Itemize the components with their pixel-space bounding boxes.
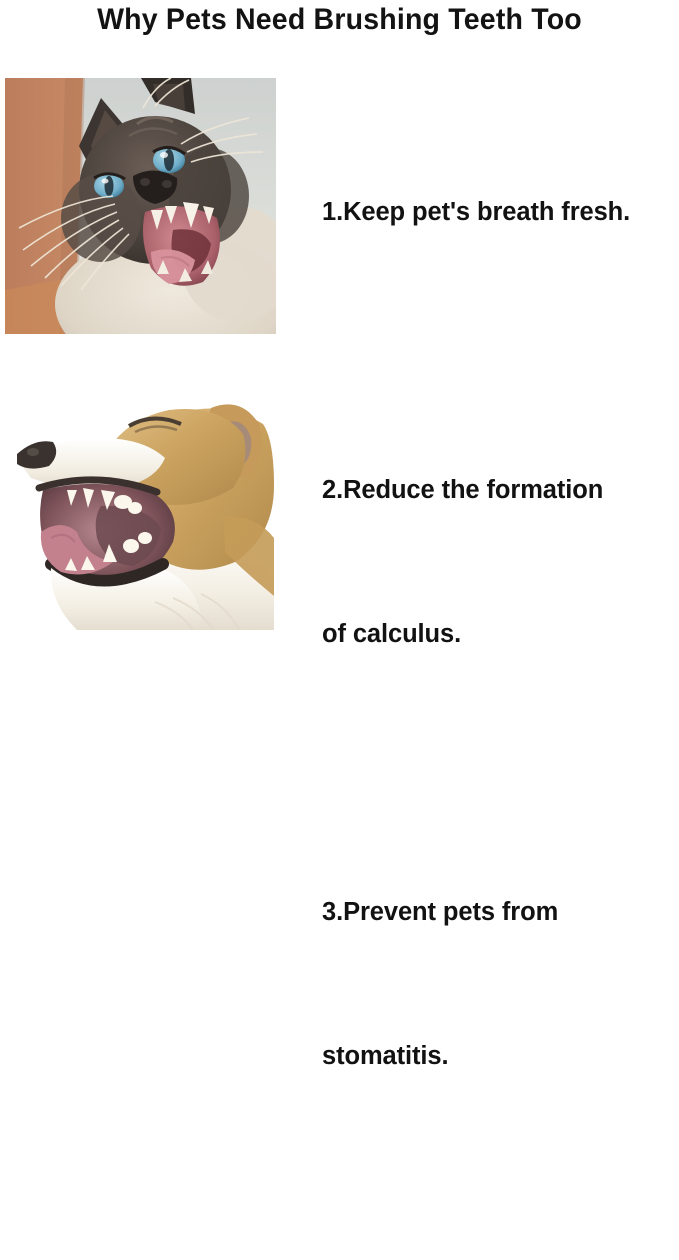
list-item-4: 4.Reduce the risk of other diseases caus… [322, 1216, 679, 1260]
list-item-1-line-1: 1.Keep pet's breath fresh. [322, 188, 679, 236]
list-item-2-line-1: 2.Reduce the formation [322, 466, 679, 514]
list-item-3: 3.Prevent pets from stomatitis. [322, 792, 679, 1176]
list-item-1: 1.Keep pet's breath fresh. [322, 92, 679, 332]
dog-photo [5, 366, 274, 630]
dog-illustration [5, 366, 274, 630]
list-item-2: 2.Reduce the formation of calculus. [322, 370, 679, 754]
page-title: Why Pets Need Brushing Teeth Too [17, 0, 662, 40]
list-item-3-line-2: stomatitis. [322, 1032, 679, 1080]
cat-illustration [5, 78, 276, 334]
infographic-page: Why Pets Need Brushing Teeth Too [0, 0, 679, 630]
benefits-list: 1.Keep pet's breath fresh. 2.Reduce the … [322, 92, 679, 1260]
list-item-2-line-2: of calculus. [322, 610, 679, 658]
list-item-3-line-1: 3.Prevent pets from [322, 888, 679, 936]
cat-photo [5, 78, 276, 334]
